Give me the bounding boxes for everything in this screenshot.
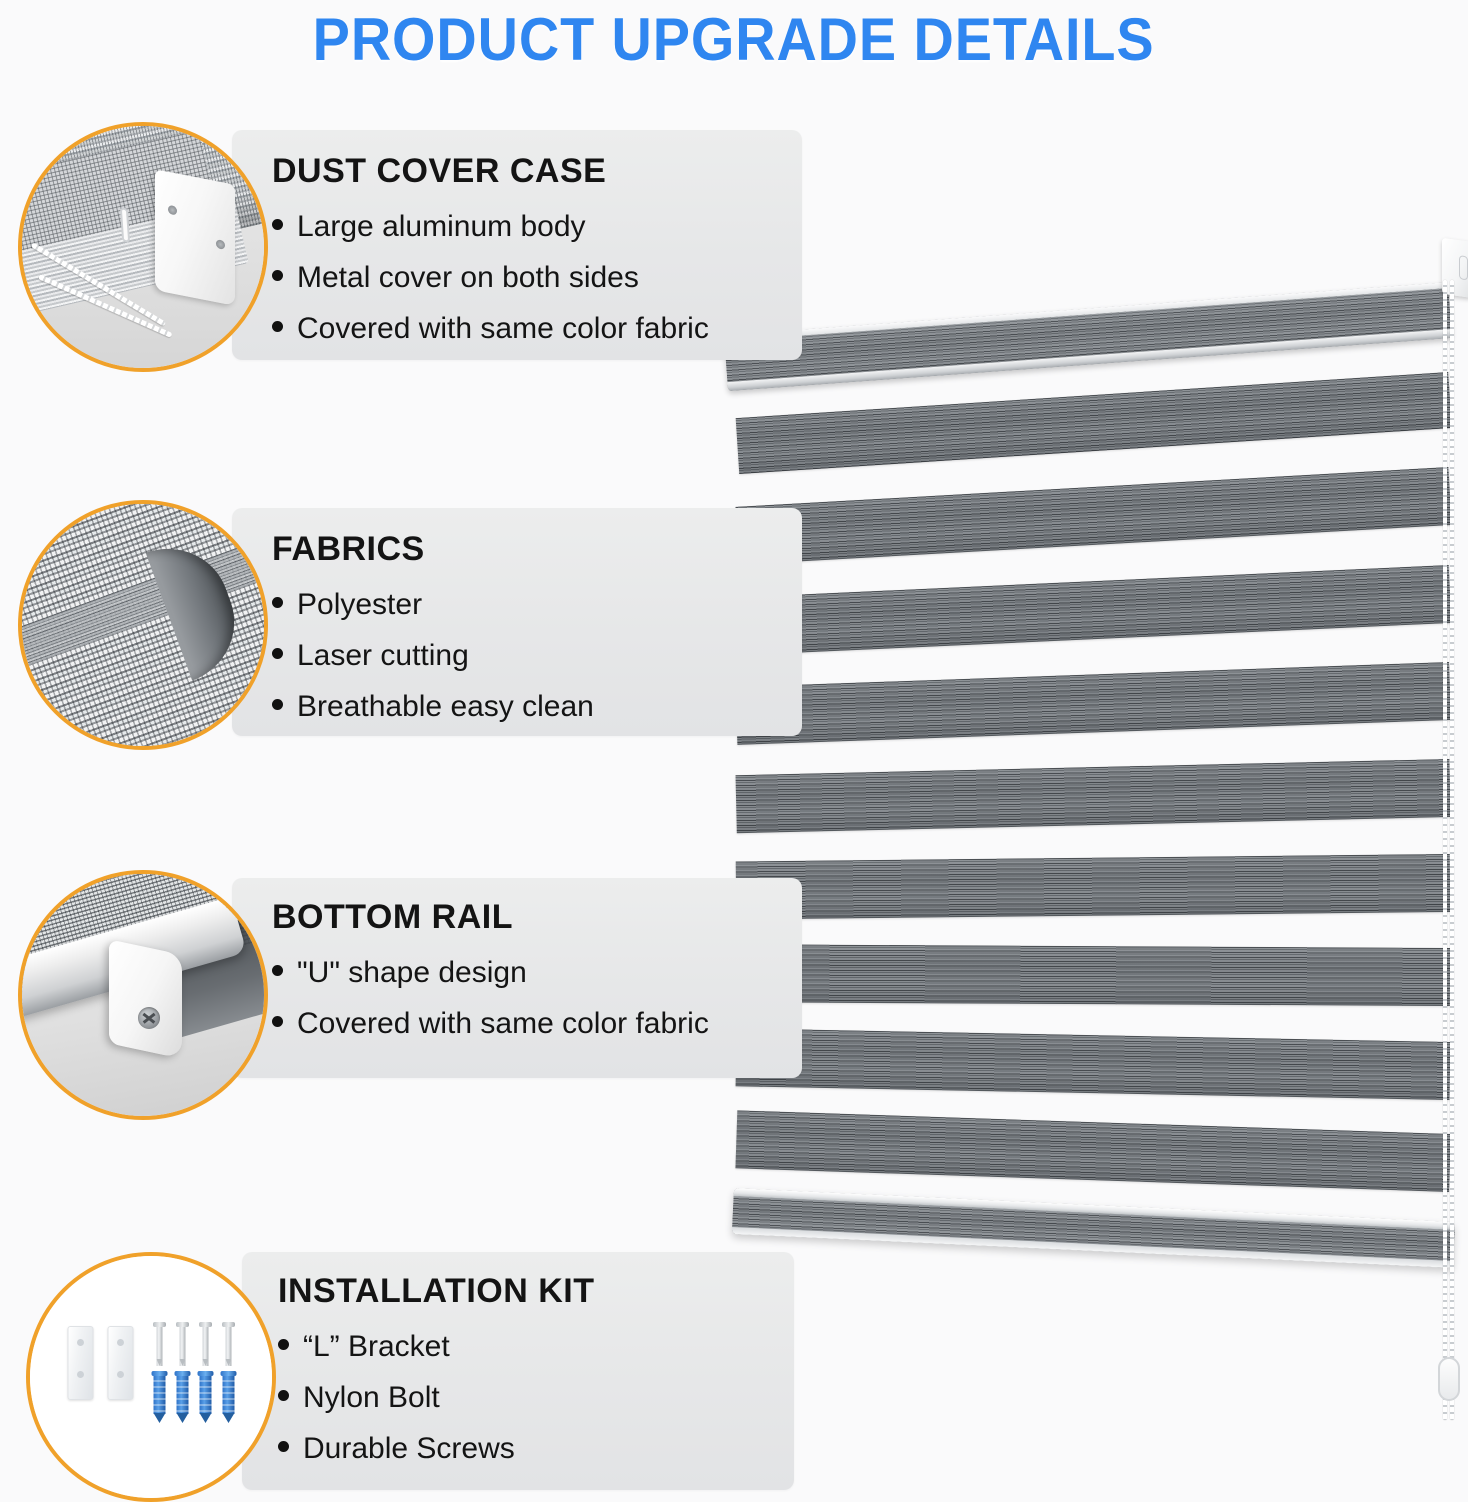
feature-bullet-item: Durable Screws bbox=[278, 1434, 594, 1464]
bullet-dot-icon bbox=[272, 1016, 283, 1027]
bullet-text: Laser cutting bbox=[297, 641, 469, 671]
blind-slat bbox=[735, 1110, 1451, 1192]
bullet-text: “L” Bracket bbox=[303, 1332, 450, 1362]
bottom-rail-endcap-photo bbox=[18, 870, 268, 1120]
bullet-dot-icon bbox=[272, 965, 283, 976]
feature-bullet-item: Large aluminum body bbox=[272, 212, 709, 242]
feature-bullet-item: Covered with same color fabric bbox=[272, 1009, 709, 1039]
bottom-rail-top-edge bbox=[734, 1188, 1456, 1230]
bullet-dot-icon bbox=[278, 1390, 289, 1401]
bullet-dot-icon bbox=[272, 321, 283, 332]
bullet-dot-icon bbox=[272, 597, 283, 608]
feature-bullet-list: “L” Bracket Nylon Bolt Durable Screws bbox=[278, 1332, 594, 1464]
bullet-text: Breathable easy clean bbox=[297, 692, 594, 722]
bullet-dot-icon bbox=[272, 219, 283, 230]
feature-bullet-item: Nylon Bolt bbox=[278, 1383, 594, 1413]
page-header: PRODUCT UPGRADE DETAILS bbox=[0, 0, 1468, 78]
installation-parts-group bbox=[68, 1326, 235, 1414]
feature-panel-text: INSTALLATION KIT “L” Bracket Nylon Bolt … bbox=[242, 1252, 594, 1464]
feature-bullet-item: Laser cutting bbox=[272, 641, 594, 671]
bottom-rail-under-edge bbox=[732, 1227, 1454, 1268]
fastener-column bbox=[200, 1326, 212, 1414]
feature-title: BOTTOM RAIL bbox=[272, 898, 709, 937]
bullet-text: Durable Screws bbox=[303, 1434, 515, 1464]
bullet-dot-icon bbox=[278, 1339, 289, 1350]
blind-slat bbox=[736, 944, 1450, 1006]
feature-bullet-item: Covered with same color fabric bbox=[272, 314, 709, 344]
feature-panel-text: FABRICS Polyester Laser cutting Breathab… bbox=[232, 508, 594, 722]
feature-panel-dust-cover-case: DUST COVER CASE Large aluminum body Meta… bbox=[232, 130, 802, 360]
feature-bullet-item: "U" shape design bbox=[272, 958, 709, 988]
feature-panel-bottom-rail: BOTTOM RAIL "U" shape design Covered wit… bbox=[232, 878, 802, 1078]
bead-chain bbox=[1443, 280, 1454, 1420]
bullet-text: Metal cover on both sides bbox=[297, 263, 639, 293]
blind-slat bbox=[735, 467, 1451, 565]
chain-connector bbox=[1438, 1357, 1460, 1401]
bullet-text: Large aluminum body bbox=[297, 212, 586, 242]
blind-slat bbox=[735, 565, 1451, 655]
feature-panel-text: BOTTOM RAIL "U" shape design Covered wit… bbox=[232, 878, 709, 1039]
feature-bullet-item: Polyester bbox=[272, 590, 594, 620]
blind-body bbox=[706, 222, 1468, 1302]
photo-content bbox=[22, 874, 264, 1116]
bullet-dot-icon bbox=[272, 699, 283, 710]
bullet-text: Polyester bbox=[297, 590, 422, 620]
page-title: PRODUCT UPGRADE DETAILS bbox=[313, 5, 1155, 74]
photo-content bbox=[22, 126, 264, 368]
feature-bullet-list: Polyester Laser cutting Breathable easy … bbox=[272, 590, 594, 722]
feature-bullet-item: “L” Bracket bbox=[278, 1332, 594, 1362]
nylon-bolt-icon bbox=[200, 1374, 212, 1414]
fasteners-group bbox=[154, 1326, 235, 1414]
feature-panel-fabrics: FABRICS Polyester Laser cutting Breathab… bbox=[232, 508, 802, 736]
feature-bullet-item: Breathable easy clean bbox=[272, 692, 594, 722]
zebra-roller-blind-image bbox=[706, 222, 1468, 1302]
feature-panel-installation-kit: INSTALLATION KIT “L” Bracket Nylon Bolt … bbox=[242, 1252, 794, 1490]
feature-title: INSTALLATION KIT bbox=[278, 1272, 594, 1311]
dust-cover-cassette-photo bbox=[18, 122, 268, 372]
metal-end-cover bbox=[155, 169, 235, 306]
screw-icon bbox=[157, 1326, 163, 1366]
chain-strand bbox=[1443, 280, 1447, 1420]
blind-slat bbox=[736, 372, 1452, 474]
photo-content bbox=[22, 504, 264, 746]
screw-icon bbox=[180, 1326, 186, 1366]
nylon-bolt-icon bbox=[154, 1374, 166, 1414]
screw-icon bbox=[203, 1326, 209, 1366]
bullet-text: Nylon Bolt bbox=[303, 1383, 440, 1413]
feature-title: DUST COVER CASE bbox=[272, 152, 709, 191]
valance-top-edge bbox=[724, 282, 1448, 341]
feature-title: FABRICS bbox=[272, 530, 594, 569]
feature-bullet-item: Metal cover on both sides bbox=[272, 263, 709, 293]
chain-strand bbox=[1450, 280, 1454, 1420]
bullet-dot-icon bbox=[278, 1441, 289, 1452]
nylon-bolt-icon bbox=[223, 1374, 235, 1414]
valance-dust-cover bbox=[724, 282, 1452, 391]
bullet-dot-icon bbox=[272, 270, 283, 281]
fastener-column bbox=[223, 1326, 235, 1414]
bullet-text: "U" shape design bbox=[297, 958, 527, 988]
bullet-text: Covered with same color fabric bbox=[297, 1009, 709, 1039]
l-bracket-icon bbox=[68, 1326, 94, 1400]
feature-bullet-list: Large aluminum body Metal cover on both … bbox=[272, 212, 709, 344]
blind-bottom-rail bbox=[732, 1188, 1455, 1268]
white-end-cap bbox=[109, 939, 182, 1058]
feature-panel-text: DUST COVER CASE Large aluminum body Meta… bbox=[232, 130, 709, 344]
fastener-column bbox=[177, 1326, 189, 1414]
zebra-fabric-photo bbox=[18, 500, 268, 750]
photo-content bbox=[30, 1256, 272, 1498]
blind-slat bbox=[736, 1028, 1451, 1100]
fastener-column bbox=[154, 1326, 166, 1414]
feature-bullet-list: "U" shape design Covered with same color… bbox=[272, 958, 709, 1039]
blind-slat bbox=[735, 662, 1451, 745]
l-bracket-icon bbox=[108, 1326, 134, 1400]
bullet-dot-icon bbox=[272, 648, 283, 659]
blind-slat bbox=[736, 854, 1451, 919]
nylon-bolt-icon bbox=[177, 1374, 189, 1414]
installation-kit-photo bbox=[26, 1252, 276, 1502]
screw-icon bbox=[226, 1326, 232, 1366]
bullet-text: Covered with same color fabric bbox=[297, 314, 709, 344]
blind-slat bbox=[736, 759, 1451, 833]
